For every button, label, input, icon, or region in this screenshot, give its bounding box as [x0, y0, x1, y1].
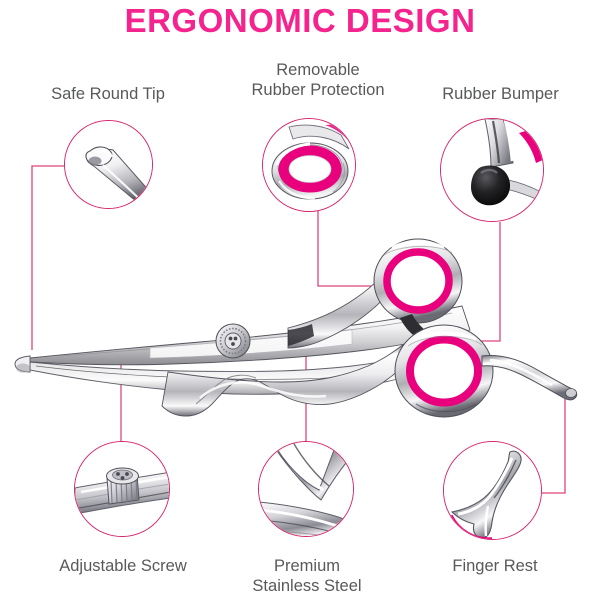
callout-circle-safe-round-tip — [64, 120, 153, 209]
steel-blade-joint-icon — [259, 442, 354, 537]
ergonomic-design-infographic: ERGONOMIC DESIGN — [0, 0, 600, 600]
callout-label-rubber-bumper: Rubber Bumper — [408, 84, 593, 104]
safe-round-tip-feature — [15, 356, 30, 372]
rounded-blade-tip-icon — [65, 121, 153, 209]
upper-shank-grip — [288, 324, 314, 346]
callout-circle-removable-rubber-protection — [262, 118, 356, 212]
tension-screw-icon — [75, 442, 170, 537]
connector-adjustable-screw — [121, 357, 228, 441]
page-title: ERGONOMIC DESIGN — [0, 2, 600, 40]
finger-rest-tang-icon — [444, 442, 542, 540]
rubber-bumper-feature — [400, 314, 432, 338]
finger-rest-feature — [482, 356, 577, 400]
adjustable-screw-feature — [216, 324, 250, 358]
upper-shank — [288, 250, 418, 348]
lower-finger-ring — [395, 325, 493, 417]
connector-rubber-bumper — [439, 222, 500, 341]
upper-finger-ring — [374, 239, 462, 323]
connector-safe-round-tip — [32, 166, 64, 350]
callout-label-finger-rest: Finger Rest — [400, 556, 590, 576]
bumper-cap — [471, 166, 510, 206]
callout-label-safe-round-tip: Safe Round Tip — [18, 84, 198, 104]
lower-blade — [30, 348, 470, 394]
upper-blade — [30, 306, 470, 365]
screw-head — [107, 468, 140, 504]
callout-circle-premium-stainless-steel — [258, 441, 354, 537]
callout-label-premium-stainless-steel: Premium Stainless Steel — [212, 556, 402, 596]
lower-shank — [162, 344, 416, 416]
connector-finger-rest — [542, 385, 565, 493]
lower-ring-rubber-insert — [410, 340, 478, 403]
connector-rubber-protection — [318, 211, 398, 286]
callout-label-removable-rubber-protection: Removable Rubber Protection — [218, 60, 418, 100]
callout-label-adjustable-screw: Adjustable Screw — [28, 556, 218, 576]
black-rubber-bumper-icon — [441, 119, 544, 222]
rubber-ring-insert-icon — [263, 119, 356, 212]
callout-circle-rubber-bumper — [440, 118, 544, 222]
upper-ring-rubber-insert — [387, 252, 449, 310]
callout-circle-finger-rest — [443, 441, 542, 540]
callout-circle-adjustable-screw — [74, 441, 170, 537]
